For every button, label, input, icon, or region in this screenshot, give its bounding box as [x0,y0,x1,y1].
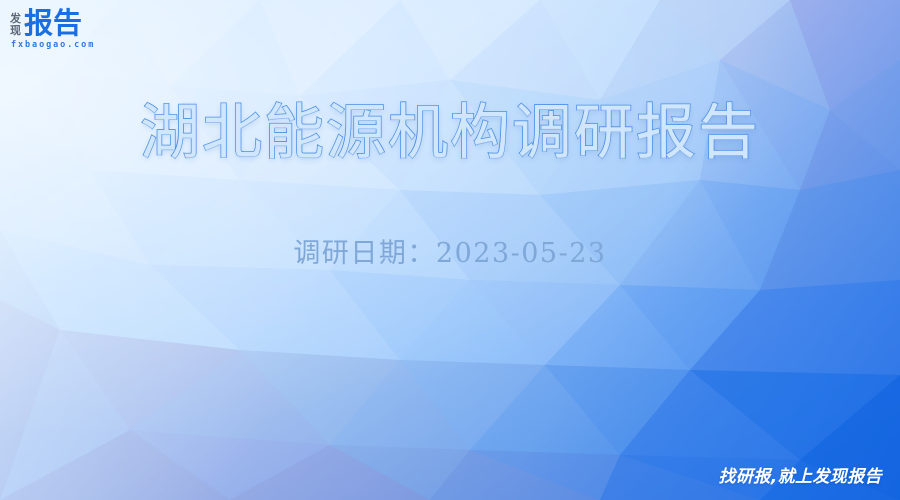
logo-wordmark: 报告 [24,9,82,38]
cover-subtitle-container: 调研日期：2023-05-23 [0,233,900,275]
report-cover-slide: 发 现 报告 fxbaogao.com 湖北能源机构调研报告 调研日期：2023… [0,0,900,500]
cover-title: 湖北能源机构调研报告 [140,95,760,171]
logo-wordmark-row: 发 现 报告 [10,8,132,38]
logo-stack-bottom-char: 现 [10,25,21,37]
logo-stacked-characters: 发 现 [10,13,21,38]
brand-logo[interactable]: 发 现 报告 fxbaogao.com [10,8,132,54]
footer-tagline: 找研报,就上发现报告 [719,466,882,488]
logo-url: fxbaogao.com [10,40,132,50]
survey-date-text: 调研日期：2023-05-23 [293,236,606,272]
cover-title-container: 湖北能源机构调研报告 [0,90,900,176]
